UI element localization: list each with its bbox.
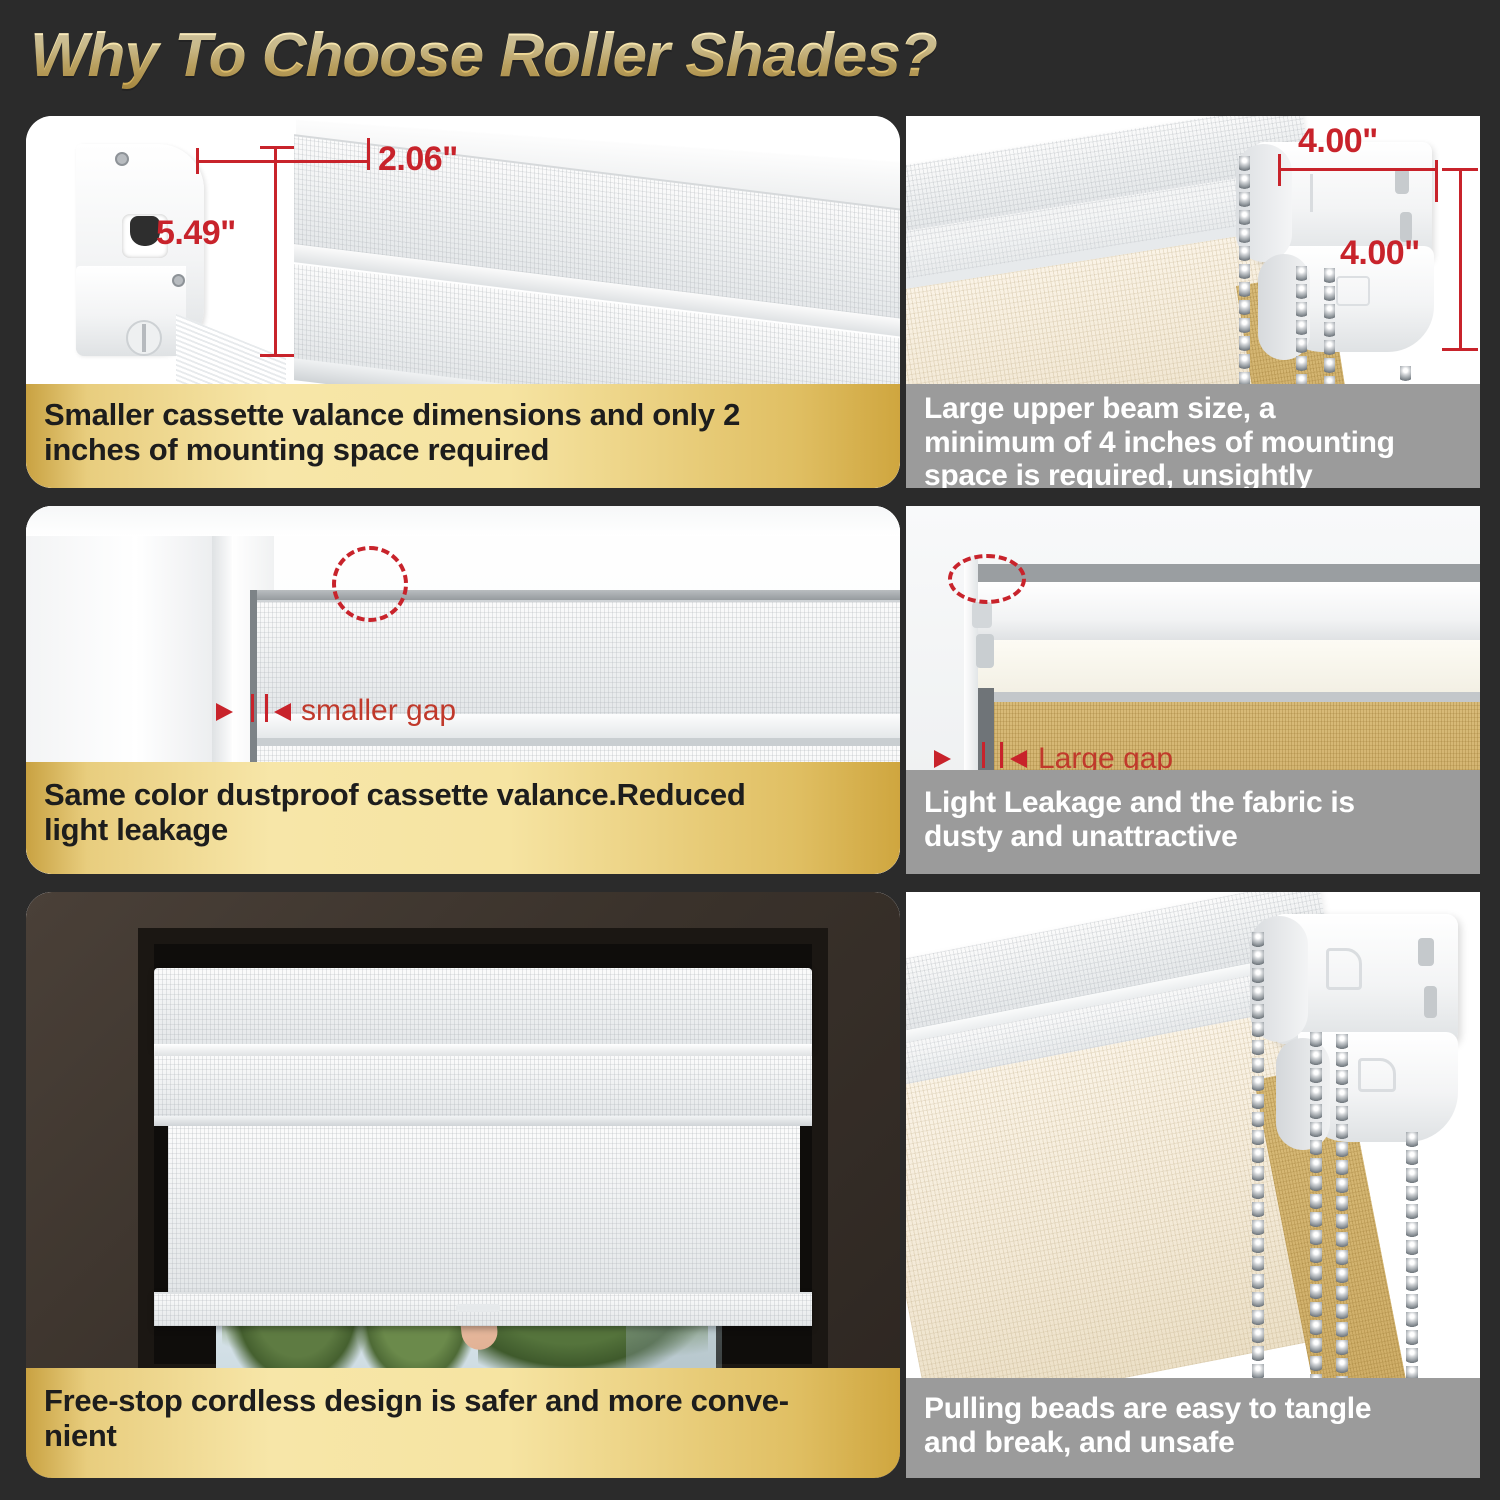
highlight-circle-icon (332, 546, 408, 622)
gap-arrow-right-icon (216, 703, 233, 721)
width-dimension-label: 2.06" (378, 140, 458, 179)
caption-smaller-cassette: Smaller cassette valance dimensions and … (26, 384, 900, 488)
gap-tick-left (251, 694, 254, 722)
beam-width-tick-left (1278, 154, 1281, 186)
caption-line: Free-stop cordless design is safer and m… (44, 1384, 882, 1419)
highlight-circle-icon (948, 554, 1026, 604)
caption-line: minimum of 4 inches of mounting (924, 426, 1462, 460)
beam-width-tick-right (1435, 160, 1438, 202)
width-dimension-tick-right (367, 138, 370, 170)
gap-tick-right (1000, 742, 1003, 768)
width-dimension-line (196, 160, 370, 163)
width-dimension-tick-left (196, 148, 199, 174)
beam-height-tick-bottom (1442, 348, 1478, 351)
height-dimension-tick-top (260, 146, 294, 149)
gap-arrow-left-icon (1010, 750, 1027, 768)
caption-line: and break, and unsafe (924, 1426, 1462, 1460)
infographic-page: Why To Choose Roller Shades? (0, 0, 1500, 1500)
beam-width-line (1278, 168, 1438, 171)
caption-line: light leakage (44, 813, 882, 848)
caption-light-leakage: Light Leakage and the fabric is dusty an… (906, 770, 1480, 874)
caption-line: Light Leakage and the fabric is (924, 786, 1462, 820)
gap-arrow-right-icon (934, 750, 951, 768)
panel-cordless-design: Free-stop cordless design is safer and m… (26, 892, 900, 1478)
caption-line: inches of mounting space required (44, 433, 882, 468)
caption-cordless-design: Free-stop cordless design is safer and m… (26, 1368, 900, 1478)
caption-line: Smaller cassette valance dimensions and … (44, 398, 882, 433)
panel-dustproof-valance: smaller gap Same color dustproof cassett… (26, 506, 900, 874)
gap-callout-label: smaller gap (301, 694, 456, 728)
beam-height-label: 4.00" (1340, 234, 1420, 273)
panel-pulling-beads: Pulling beads are easy to tangle and bre… (906, 892, 1480, 1478)
beam-width-label: 4.00" (1298, 122, 1378, 161)
gap-tick-left (982, 742, 985, 768)
height-dimension-label: 5.49" (156, 214, 236, 253)
caption-pulling-beads: Pulling beads are easy to tangle and bre… (906, 1378, 1480, 1478)
beam-height-tick-top (1442, 168, 1478, 171)
caption-line: Large upper beam size, a (924, 392, 1462, 426)
height-dimension-line (274, 146, 277, 356)
gap-tick-right (265, 694, 268, 722)
caption-dustproof-valance: Same color dustproof cassette valance.Re… (26, 762, 900, 874)
height-dimension-tick-bottom (260, 354, 294, 357)
caption-line: Pulling beads are easy to tangle (924, 1392, 1462, 1426)
panel-grid: 5.49" 2.06" Smaller cassette valance dim… (0, 0, 1500, 1500)
panel-large-upper-beam: 4.00" 4.00" Large upper beam size, a min… (906, 116, 1480, 488)
caption-large-upper-beam: Large upper beam size, a minimum of 4 in… (906, 384, 1480, 488)
caption-line: Same color dustproof cassette valance.Re… (44, 778, 882, 813)
beam-height-line (1459, 168, 1462, 350)
panel-smaller-cassette: 5.49" 2.06" Smaller cassette valance dim… (26, 116, 900, 488)
gap-arrow-left-icon (274, 703, 291, 721)
caption-line: nient (44, 1419, 882, 1454)
caption-line: space is required, unsightly (924, 459, 1462, 488)
panel-light-leakage: Large gap Light Leakage and the fabric i… (906, 506, 1480, 874)
caption-line: dusty and unattractive (924, 820, 1462, 854)
